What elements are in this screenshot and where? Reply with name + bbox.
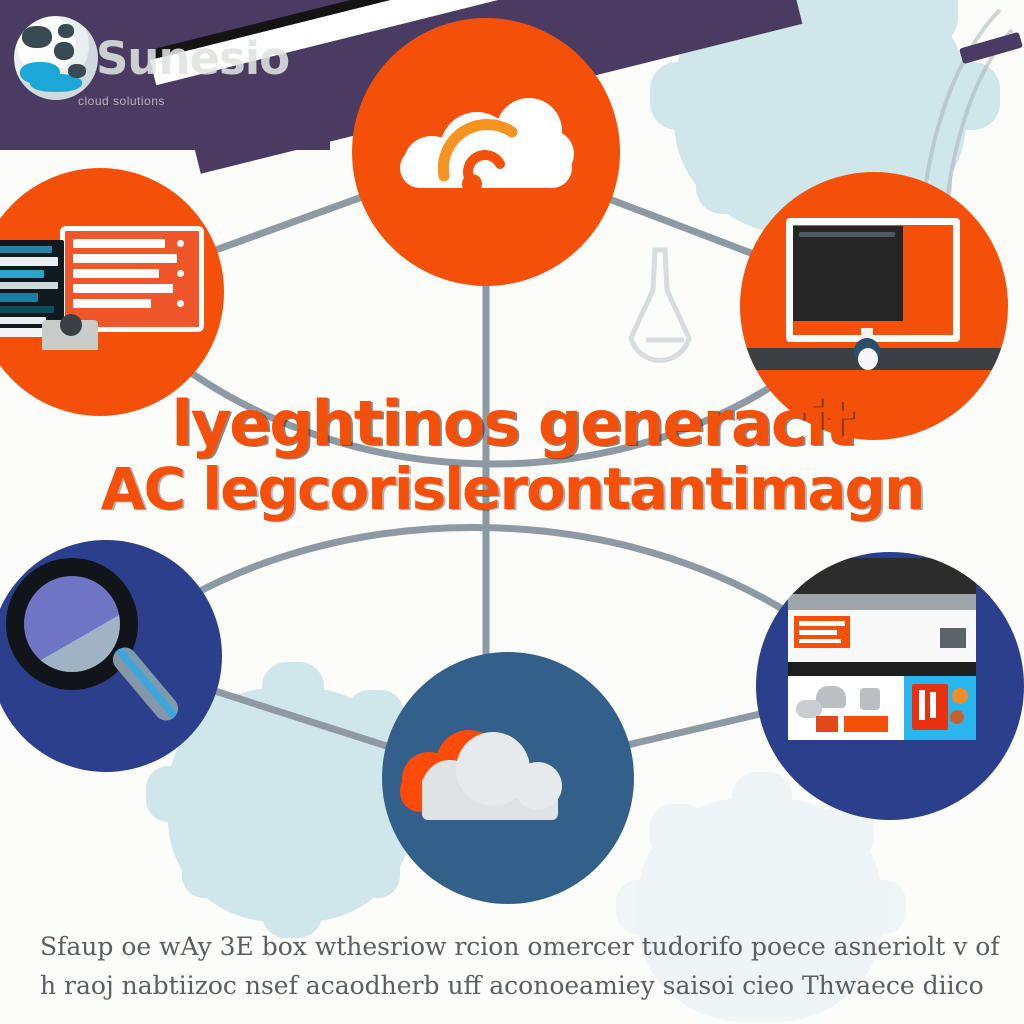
list-panel xyxy=(60,226,204,332)
infographic-canvas: Sunesio cloud solutions xyxy=(0,0,1024,1024)
brand-tagline: cloud solutions xyxy=(78,94,165,108)
caption: Sfaup oe wAy 3E box wthesriow rcion omer… xyxy=(40,928,1000,1006)
node-desktop-monitor[interactable] xyxy=(740,172,1008,440)
node-cloud-sync[interactable] xyxy=(382,652,634,904)
flask-sketch-icon xyxy=(631,250,689,360)
node-search[interactable] xyxy=(0,540,222,772)
wifi-icon xyxy=(430,114,526,194)
brand-wordmark: Sunesio xyxy=(96,32,289,85)
logo-tile-small xyxy=(844,716,888,732)
node-browser-window[interactable] xyxy=(756,552,1024,820)
browser-window xyxy=(788,558,976,740)
caption-line-2: h raoj nabtiizoc nsef acaodherb uff acon… xyxy=(40,967,1000,1006)
cloud-grey-icon xyxy=(422,732,558,820)
stand-knob-inner xyxy=(858,348,878,370)
node-monitor-code[interactable] xyxy=(0,168,224,416)
node-cloud-wifi[interactable] xyxy=(352,18,620,286)
caption-line-1: Sfaup oe wAy 3E box wthesriow rcion omer… xyxy=(40,928,1000,967)
globe-icon xyxy=(14,16,98,100)
desk-object-dark xyxy=(60,314,82,336)
magnifier-icon xyxy=(0,540,222,772)
monitor-screen xyxy=(793,226,903,321)
headline-line-2: AC legcorislerontantimagn xyxy=(0,459,1024,520)
laptop-screen xyxy=(0,240,64,330)
